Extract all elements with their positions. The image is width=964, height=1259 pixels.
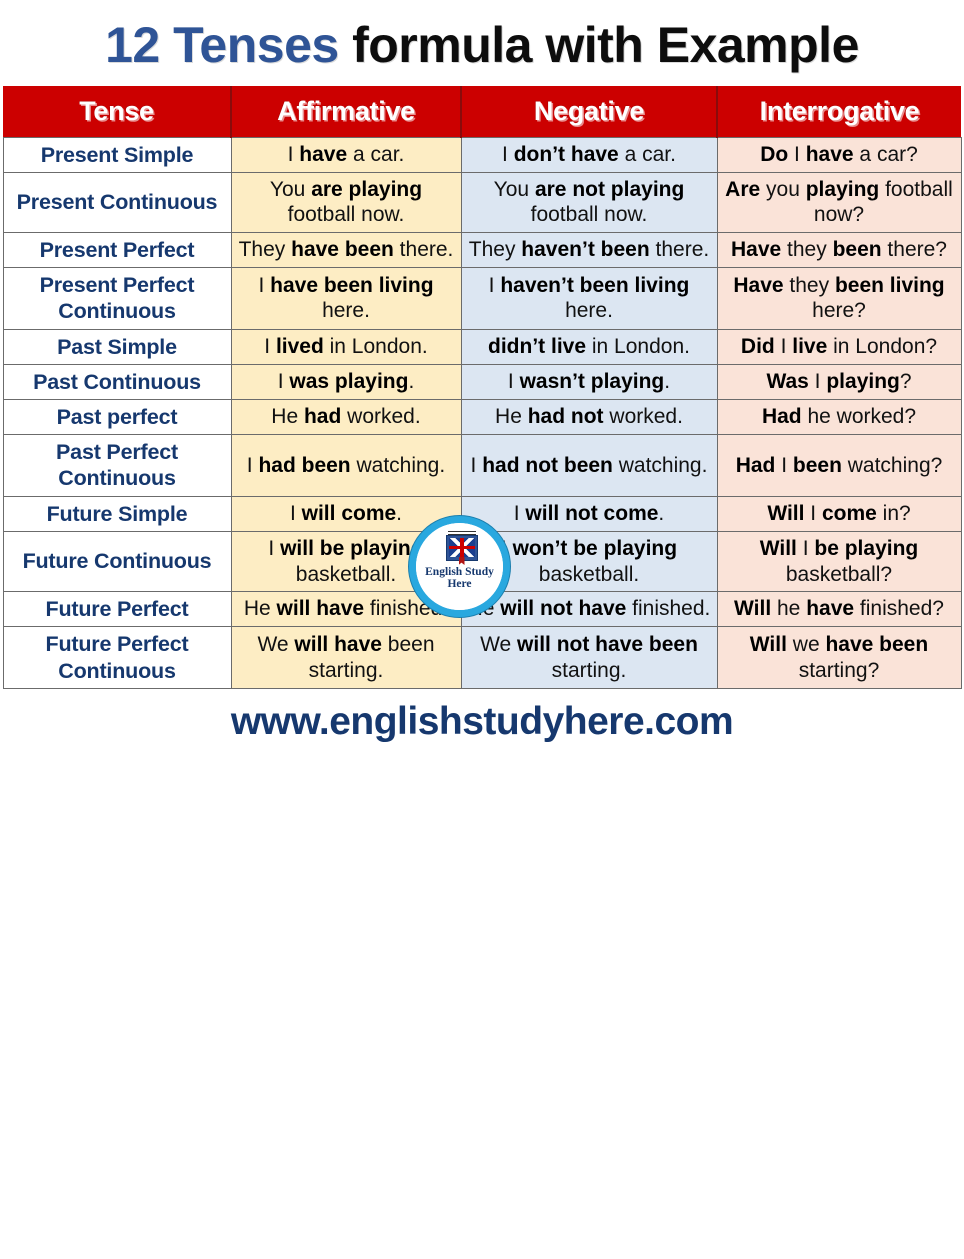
column-header-affirmative: Affirmative: [231, 86, 461, 137]
affirmative-cell: I was playing.: [231, 364, 461, 399]
affirmative-cell: I have a car.: [231, 137, 461, 172]
website-url: www.englishstudyhere.com: [231, 700, 733, 744]
column-header-negative: Negative: [461, 86, 717, 137]
negative-cell: I don’t have a car.: [461, 137, 717, 172]
tense-name-cell: Future Simple: [3, 496, 231, 531]
negative-cell: I will not come.: [461, 496, 717, 531]
interrogative-cell: Have they been there?: [717, 232, 961, 267]
affirmative-cell: I lived in London.: [231, 329, 461, 364]
interrogative-cell: Will he have finished?: [717, 592, 961, 627]
negative-cell: I haven’t been living here.: [461, 268, 717, 329]
interrogative-cell: Are you playing football now?: [717, 172, 961, 232]
table-row: Future SimpleI will come.I will not come…: [3, 496, 961, 531]
affirmative-cell: I have been living here.: [231, 268, 461, 329]
table-row: Present PerfectThey have been there.They…: [3, 232, 961, 267]
affirmative-cell: They have been there.: [231, 232, 461, 267]
negative-cell: I wasn’t playing.: [461, 364, 717, 399]
tense-name-cell: Future Perfect Continuous: [3, 627, 231, 688]
table-row: Past SimpleI lived in London.didn’t live…: [3, 329, 961, 364]
negative-cell: He will not have finished.: [461, 592, 717, 627]
table-row: Future PerfectHe will have finished.He w…: [3, 592, 961, 627]
tense-name-cell: Present Continuous: [3, 172, 231, 232]
table-row: Future ContinuousI will be playing baske…: [3, 531, 961, 591]
table-row: Past ContinuousI was playing.I wasn’t pl…: [3, 364, 961, 399]
table-row: Present ContinuousYou are playing footba…: [3, 172, 961, 232]
tense-name-cell: Present Simple: [3, 137, 231, 172]
affirmative-cell: I had been watching.: [231, 435, 461, 496]
affirmative-cell: I will be playing basketball.: [231, 531, 461, 591]
affirmative-cell: I will come.: [231, 496, 461, 531]
table-body: Present SimpleI have a car.I don’t have …: [3, 137, 961, 688]
affirmative-cell: He had worked.: [231, 400, 461, 435]
column-header-interrogative: Interrogative: [717, 86, 961, 137]
footer: www.englishstudyhere.com: [0, 689, 964, 755]
interrogative-cell: Did I live in London?: [717, 329, 961, 364]
affirmative-cell: You are playing football now.: [231, 172, 461, 232]
negative-cell: I had not been watching.: [461, 435, 717, 496]
interrogative-cell: Had I been watching?: [717, 435, 961, 496]
tense-name-cell: Future Continuous: [3, 531, 231, 591]
affirmative-cell: We will have been starting.: [231, 627, 461, 688]
table-row: Past Perfect ContinuousI had been watchi…: [3, 435, 961, 496]
interrogative-cell: Will I come in?: [717, 496, 961, 531]
interrogative-cell: Had he worked?: [717, 400, 961, 435]
negative-cell: He had not worked.: [461, 400, 717, 435]
interrogative-cell: Was I playing?: [717, 364, 961, 399]
interrogative-cell: Will we have been starting?: [717, 627, 961, 688]
tense-name-cell: Present Perfect Continuous: [3, 268, 231, 329]
table-row: Past perfectHe had worked.He had not wor…: [3, 400, 961, 435]
table-row: Future Perfect ContinuousWe will have be…: [3, 627, 961, 688]
interrogative-cell: Have they been living here?: [717, 268, 961, 329]
title-highlight: 12 Tenses: [105, 17, 339, 73]
table-row: Present SimpleI have a car.I don’t have …: [3, 137, 961, 172]
title-rest: formula with Example: [339, 17, 859, 73]
tense-name-cell: Past Simple: [3, 329, 231, 364]
affirmative-cell: He will have finished.: [231, 592, 461, 627]
interrogative-cell: Will I be playing basketball?: [717, 531, 961, 591]
table-row: Present Perfect ContinuousI have been li…: [3, 268, 961, 329]
negative-cell: didn’t live in London.: [461, 329, 717, 364]
tenses-infographic: 12 Tenses formula with Example Tense Aff…: [0, 0, 964, 1259]
interrogative-cell: Do I have a car?: [717, 137, 961, 172]
tense-name-cell: Past perfect: [3, 400, 231, 435]
page-title: 12 Tenses formula with Example: [0, 0, 964, 86]
negative-cell: They haven’t been there.: [461, 232, 717, 267]
negative-cell: I won’t be playing basketball.: [461, 531, 717, 591]
table-header-row: Tense Affirmative Negative Interrogative: [3, 86, 961, 137]
tense-name-cell: Past Perfect Continuous: [3, 435, 231, 496]
tense-name-cell: Past Continuous: [3, 364, 231, 399]
tense-name-cell: Future Perfect: [3, 592, 231, 627]
tense-name-cell: Present Perfect: [3, 232, 231, 267]
tenses-table: Tense Affirmative Negative Interrogative…: [3, 86, 962, 689]
negative-cell: We will not have been starting.: [461, 627, 717, 688]
column-header-tense: Tense: [3, 86, 231, 137]
negative-cell: You are not playing football now.: [461, 172, 717, 232]
